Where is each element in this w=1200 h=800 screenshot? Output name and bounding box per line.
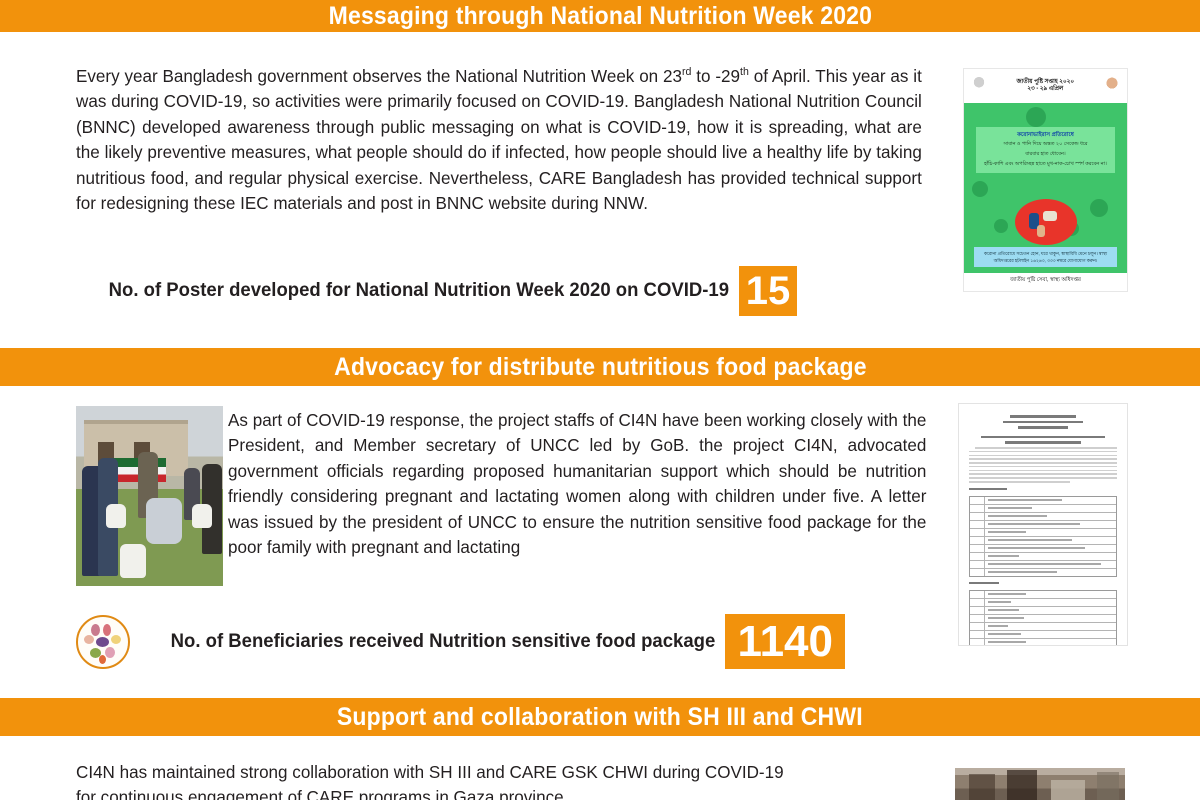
newsletter-page: Messaging through National Nutrition Wee… xyxy=(0,0,1200,800)
food-item-shape xyxy=(105,647,115,658)
nnw-covid-poster-image: জাতীয় পুষ্টি সপ্তাহ ২০২০ ২৩ - ২৯ এপ্রিল… xyxy=(963,68,1128,292)
chwi-collaboration-photo xyxy=(955,766,1125,800)
poster-body: করোনাভাইরাস প্রতিরোধে সাবান ও পানি দিয়ে… xyxy=(964,103,1127,273)
food-package-distribution-photo xyxy=(76,406,223,586)
section-header-advocacy-title: Advocacy for distribute nutritious food … xyxy=(334,355,867,380)
poster-message-line-3: হাঁচি-কাশি এবং অপরিচ্ছন্ন হাতে মুখ-নাক-চ… xyxy=(979,161,1112,169)
table-row xyxy=(970,599,1116,607)
letter-table-1 xyxy=(969,496,1117,577)
table-row xyxy=(970,569,1116,576)
unnc-official-letter-scan xyxy=(958,403,1128,646)
stat-beneficiaries-value: 1140 xyxy=(725,614,845,669)
letter-table-caption xyxy=(969,488,1007,490)
table-row xyxy=(970,623,1116,631)
figure-shape xyxy=(1037,225,1045,237)
ordinal-suffix-th: th xyxy=(740,66,749,78)
stat-posters-developed: No. of Poster developed for National Nut… xyxy=(76,266,797,316)
table-row xyxy=(970,561,1116,569)
section-header-nnw: Messaging through National Nutrition Wee… xyxy=(0,0,1200,32)
letter-subject-line xyxy=(981,436,1105,439)
virus-icon xyxy=(994,219,1008,233)
poster-message-line-1: সাবান ও পানি দিয়ে অন্তত ২০ সেকেন্ড ধরে xyxy=(979,141,1112,149)
food-item-shape xyxy=(91,624,100,636)
advocacy-paragraph: As part of COVID-19 response, the projec… xyxy=(228,408,926,560)
poster-handwash-illustration xyxy=(1015,199,1077,245)
nnw-paragraph-rest: of April. This year as it was during COV… xyxy=(76,66,922,213)
section-header-advocacy: Advocacy for distribute nutritious food … xyxy=(0,348,1200,386)
poster-footer: জাতীয় পুষ্টি সেবা, স্বাস্থ্য অধিদপ্তর xyxy=(964,273,1127,289)
table-row xyxy=(970,497,1116,505)
table-row xyxy=(970,607,1116,615)
letter-subject-line xyxy=(1005,441,1082,444)
poster-left-logo-icon xyxy=(972,75,986,93)
letter-header-line xyxy=(1018,426,1068,429)
poster-header-subtitle: ২৩ - ২৯ এপ্রিল xyxy=(1017,86,1075,94)
photo-sack-shape xyxy=(192,504,212,528)
food-item-shape xyxy=(84,635,94,644)
photo-wall-shape xyxy=(1097,772,1119,800)
stat-beneficiaries: No. of Beneficiaries received Nutrition … xyxy=(76,614,845,669)
table-row xyxy=(970,521,1116,529)
table-row xyxy=(970,591,1116,599)
letter-header-line xyxy=(1003,421,1083,424)
food-item-shape xyxy=(96,637,109,647)
section-header-collaboration: Support and collaboration with SH III an… xyxy=(0,698,1200,736)
food-item-shape xyxy=(111,635,121,644)
poster-message-box: করোনাভাইরাস প্রতিরোধে সাবান ও পানি দিয়ে… xyxy=(976,127,1115,173)
nnw-paragraph: Every year Bangladesh government observe… xyxy=(76,64,922,216)
section-header-collaboration-title: Support and collaboration with SH III an… xyxy=(337,705,863,730)
stat-beneficiaries-label: No. of Beneficiaries received Nutrition … xyxy=(171,631,716,652)
photo-sack-shape xyxy=(106,504,126,528)
collaboration-paragraph: CI4N has maintained strong collaboration… xyxy=(76,760,922,800)
collaboration-paragraph-line-2: for continuous engagement of CARE progra… xyxy=(76,785,922,800)
poster-right-logo-icon xyxy=(1105,75,1119,93)
letter-table-caption xyxy=(969,582,999,584)
photo-table-shape xyxy=(1051,780,1085,800)
letter-header xyxy=(969,415,1117,429)
food-item-shape xyxy=(103,624,111,636)
letter-table-2 xyxy=(969,590,1117,646)
table-row xyxy=(970,545,1116,553)
stat-posters-label: No. of Poster developed for National Nut… xyxy=(109,280,729,301)
photo-sack-shape xyxy=(120,544,146,578)
nnw-paragraph-lead: Every year Bangladesh government observe… xyxy=(76,66,682,86)
poster-header-title: জাতীয় পুষ্টি সপ্তাহ ২০২০ xyxy=(1017,79,1075,87)
virus-icon xyxy=(1026,107,1046,127)
letter-paragraph xyxy=(969,447,1117,483)
virus-icon xyxy=(1090,199,1108,217)
table-row xyxy=(970,615,1116,623)
stat-posters-value: 15 xyxy=(739,266,797,316)
photo-person-shape xyxy=(969,774,995,800)
table-row xyxy=(970,529,1116,537)
nnw-paragraph-mid: to -29 xyxy=(691,66,740,86)
virus-icon xyxy=(972,181,988,197)
poster-message-title: করোনাভাইরাস প্রতিরোধে xyxy=(979,131,1112,139)
poster-message-line-2: বারবার হাত ধোবেন। xyxy=(979,151,1112,159)
table-row xyxy=(970,513,1116,521)
poster-header-text: জাতীয় পুষ্টি সপ্তাহ ২০২০ ২৩ - ২৯ এপ্রিল xyxy=(1017,79,1075,94)
table-row xyxy=(970,631,1116,639)
photo-person-shape xyxy=(146,498,182,544)
table-row xyxy=(970,537,1116,545)
table-row xyxy=(970,505,1116,513)
poster-note-box: করোনা প্রতিরোধে সচেতন হোন, ঘরে থাকুন, স্… xyxy=(974,247,1117,267)
table-row xyxy=(970,553,1116,561)
table-row xyxy=(970,639,1116,646)
figure-shape xyxy=(1043,211,1057,221)
nutrition-food-circle-icon xyxy=(76,615,130,669)
collaboration-paragraph-line-1: CI4N has maintained strong collaboration… xyxy=(76,760,922,785)
photo-doorway-shape xyxy=(1007,770,1037,800)
section-header-nnw-title: Messaging through National Nutrition Wee… xyxy=(328,4,872,29)
food-item-shape xyxy=(99,655,106,664)
poster-header: জাতীয় পুষ্টি সপ্তাহ ২০২০ ২৩ - ২৯ এপ্রিল xyxy=(964,69,1127,103)
letter-header-line xyxy=(1010,415,1075,418)
